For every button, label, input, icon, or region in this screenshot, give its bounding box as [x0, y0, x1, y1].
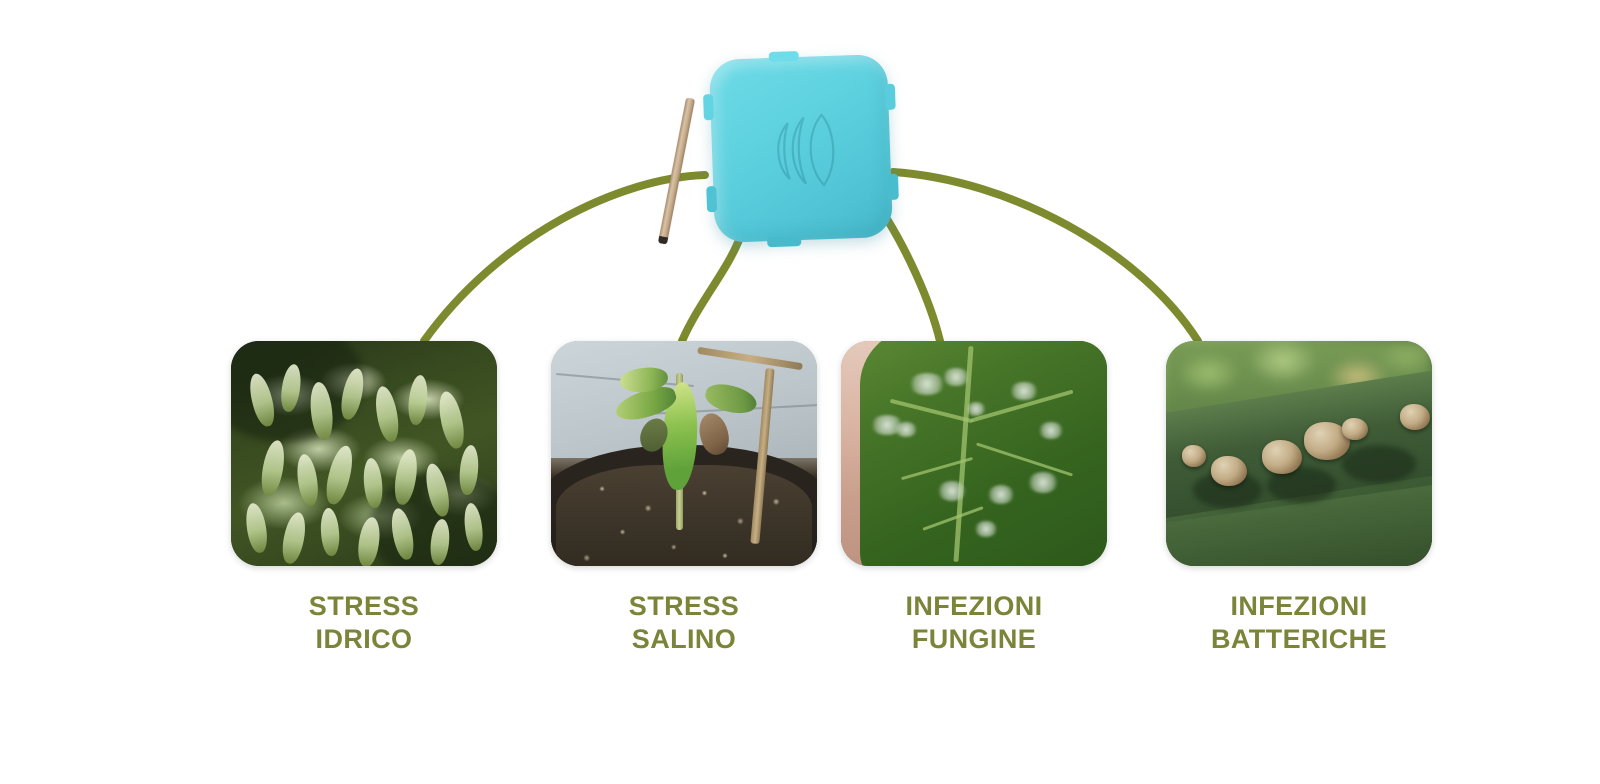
card-stress-idrico[interactable]	[231, 341, 497, 566]
connector-stem-1	[424, 175, 705, 341]
clip-tab-top-left	[703, 94, 714, 120]
label-line-2: SALINO	[551, 623, 817, 656]
potted-seedling-photo	[551, 341, 817, 566]
clip-tab-bottom-left	[706, 186, 717, 212]
card-infezioni-fungine[interactable]	[841, 341, 1107, 566]
label-infezioni-fungine: INFEZIONI FUNGINE	[841, 590, 1107, 656]
leaf-logo-icon	[757, 106, 852, 193]
fungal-spots-leaf-photo	[841, 341, 1107, 566]
label-line-1: INFEZIONI	[905, 591, 1042, 621]
wilted-leaves-photo	[231, 341, 497, 566]
label-stress-idrico: STRESS IDRICO	[231, 590, 497, 656]
sensor-body[interactable]	[709, 54, 893, 243]
label-line-1: STRESS	[309, 591, 419, 621]
clip-tab-bottom	[767, 236, 801, 247]
label-line-2: BATTERICHE	[1166, 623, 1432, 656]
label-line-2: IDRICO	[231, 623, 497, 656]
label-infezioni-batteriche: INFEZIONI BATTERICHE	[1166, 590, 1432, 656]
label-line-1: STRESS	[629, 591, 739, 621]
connector-stem-4	[893, 172, 1198, 341]
card-stress-salino[interactable]	[551, 341, 817, 566]
label-line-2: FUNGINE	[841, 623, 1107, 656]
clip-tab-top	[769, 51, 799, 62]
infographic-canvas: STRESS IDRICO STRESS SALINO INFEZIONI FU…	[0, 0, 1600, 784]
clip-tab-top-right	[885, 84, 896, 110]
label-line-1: INFEZIONI	[1230, 591, 1367, 621]
bacterial-galls-leaf-photo	[1166, 341, 1432, 566]
leaf-sensor-device[interactable]	[700, 45, 905, 260]
clip-tab-bottom-right	[888, 174, 899, 200]
label-stress-salino: STRESS SALINO	[551, 590, 817, 656]
card-infezioni-batteriche[interactable]	[1166, 341, 1432, 566]
